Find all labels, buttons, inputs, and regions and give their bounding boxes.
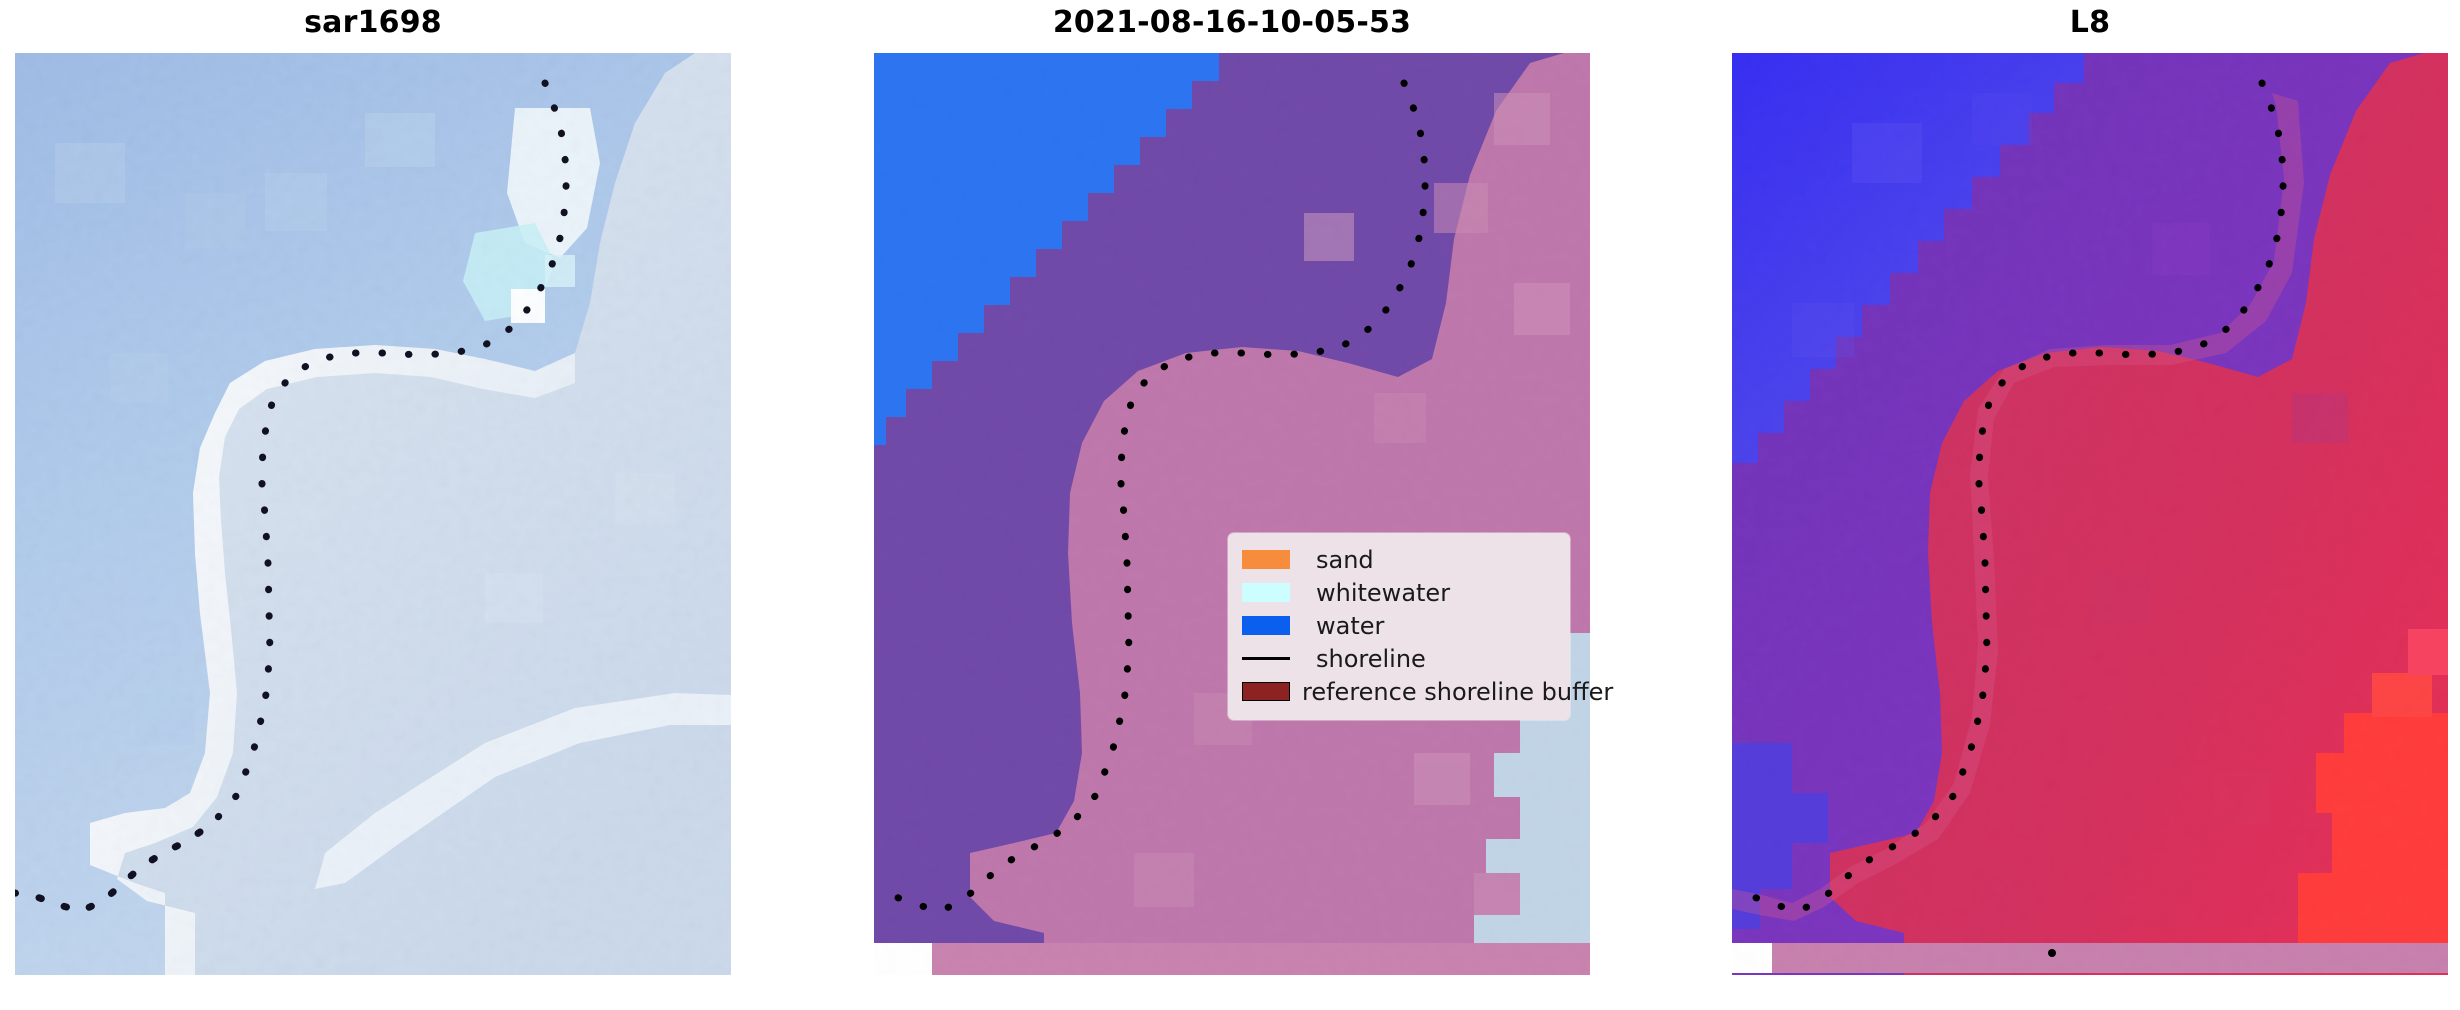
sar-image-canvas bbox=[15, 53, 731, 975]
legend-item-water[interactable]: water bbox=[1242, 609, 1558, 642]
classified-image-canvas bbox=[874, 53, 1590, 975]
legend-label-water: water bbox=[1304, 612, 1384, 640]
color-swatch-icon-sand bbox=[1242, 550, 1290, 569]
legend-item-shoreline[interactable]: shoreline bbox=[1242, 642, 1558, 675]
legend-item-sand[interactable]: sand bbox=[1242, 543, 1558, 576]
whitewater-swatch-wrap bbox=[1242, 583, 1304, 602]
line-sample-icon-shoreline bbox=[1242, 657, 1290, 660]
l8-image-canvas bbox=[1732, 53, 2448, 975]
legend-item-reference-shoreline-buffer[interactable]: reference shoreline buffer bbox=[1242, 675, 1558, 708]
shoreline-line-wrap bbox=[1242, 657, 1304, 660]
panel-title-classified: 2021-08-16-10-05-53 bbox=[874, 6, 1590, 40]
legend-label-sand: sand bbox=[1304, 546, 1374, 574]
legend-label-reference-shoreline-buffer: reference shoreline buffer bbox=[1290, 678, 1613, 706]
satellite-shoreline-figure: sar1698 bbox=[0, 0, 2460, 1010]
color-swatch-icon-whitewater bbox=[1242, 583, 1290, 602]
buffer-swatch-wrap bbox=[1242, 682, 1290, 701]
panel-title-l8: L8 bbox=[1732, 6, 2448, 40]
color-swatch-icon-reference-buffer bbox=[1242, 682, 1290, 701]
legend-label-shoreline: shoreline bbox=[1304, 645, 1426, 673]
legend-item-whitewater[interactable]: whitewater bbox=[1242, 576, 1558, 609]
panel-title-sar: sar1698 bbox=[15, 6, 731, 40]
color-swatch-icon-water bbox=[1242, 616, 1290, 635]
water-swatch-wrap bbox=[1242, 616, 1304, 635]
legend-box[interactable]: sand whitewater water shoreline referenc bbox=[1228, 533, 1570, 720]
panel-sar[interactable] bbox=[15, 53, 731, 975]
legend-label-whitewater: whitewater bbox=[1304, 579, 1450, 607]
panel-l8[interactable] bbox=[1732, 53, 2448, 975]
panel-classified[interactable] bbox=[874, 53, 1590, 975]
sand-swatch-wrap bbox=[1242, 550, 1304, 569]
